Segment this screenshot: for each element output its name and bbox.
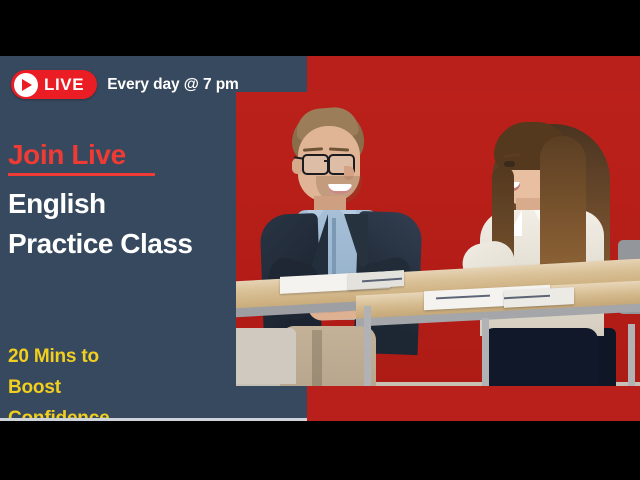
photo-base-red <box>307 386 640 400</box>
eyebrow-join-live: Join Live <box>8 141 126 169</box>
live-badge-label: LIVE <box>44 76 84 93</box>
glasses-bridge <box>324 160 330 162</box>
subheadline: 20 Mins to Boost Confidence <box>8 342 109 421</box>
letterbox-top <box>0 0 640 56</box>
headline-line-1: English <box>8 184 192 224</box>
live-row: LIVE Every day @ 7 pm <box>11 70 239 99</box>
man-smile <box>328 184 352 194</box>
thumbnail-canvas: LIVE Every day @ 7 pm Join Live English … <box>0 56 640 421</box>
headline-line-2: Practice Class <box>8 224 192 264</box>
headline: English Practice Class <box>8 184 192 264</box>
video-thumbnail-stage: LIVE Every day @ 7 pm Join Live English … <box>0 0 640 480</box>
eyebrow-underline <box>8 173 155 176</box>
thumbnail-text-content: LIVE Every day @ 7 pm Join Live English … <box>0 56 307 421</box>
schedule-text: Every day @ 7 pm <box>107 76 239 94</box>
desk-leg-left <box>364 306 371 392</box>
play-triangle <box>22 79 32 91</box>
subheadline-line-1: 20 Mins to <box>8 342 109 373</box>
play-icon <box>14 73 38 97</box>
subheadline-line-2: Boost <box>8 373 109 404</box>
live-badge: LIVE <box>11 70 97 99</box>
letterbox-bottom <box>0 421 640 480</box>
photo-subject-woman <box>436 110 640 400</box>
